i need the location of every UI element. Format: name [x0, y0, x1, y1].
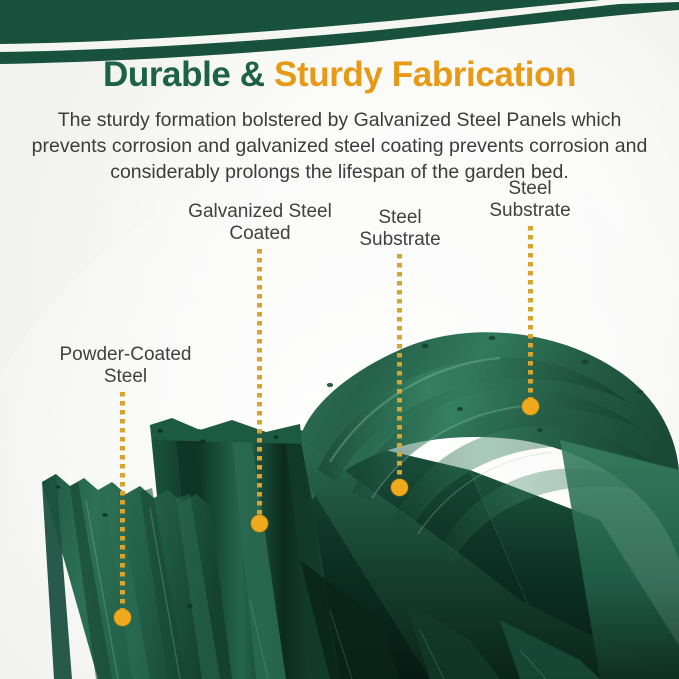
callout-dot-powder-coated-steel: [114, 609, 131, 626]
panel-left-foreground: [42, 474, 232, 679]
callout-leader-steel-substrate-mid: [397, 254, 402, 487]
callout-label-powder-coated-steel: Powder-Coated Steel: [38, 344, 213, 389]
callout-dot-steel-substrate-mid: [391, 479, 408, 496]
callout-label-galvanized-steel-coated: Galvanized Steel Coated: [172, 201, 348, 246]
page-title: Durable & Sturdy Fabrication: [0, 57, 679, 92]
callout-leader-steel-substrate-right: [528, 226, 533, 406]
title-green-part: Durable &: [103, 55, 274, 94]
callout-leader-galvanized-steel-coated: [257, 249, 262, 525]
page-subtitle: The sturdy formation bolstered by Galvan…: [18, 108, 661, 186]
galvanized-steel-panel-photo: [0, 0, 679, 679]
callout-label-steel-substrate-right: Steel Substrate: [478, 178, 582, 223]
callout-label-steel-substrate-mid: Steel Substrate: [348, 207, 452, 252]
product-infographic: Durable & Sturdy Fabrication The sturdy …: [0, 0, 679, 679]
callout-dot-steel-substrate-right: [522, 398, 539, 415]
callout-dot-galvanized-steel-coated: [251, 515, 268, 532]
title-orange-part: Sturdy Fabrication: [274, 55, 576, 94]
callout-leader-powder-coated-steel: [120, 392, 125, 618]
